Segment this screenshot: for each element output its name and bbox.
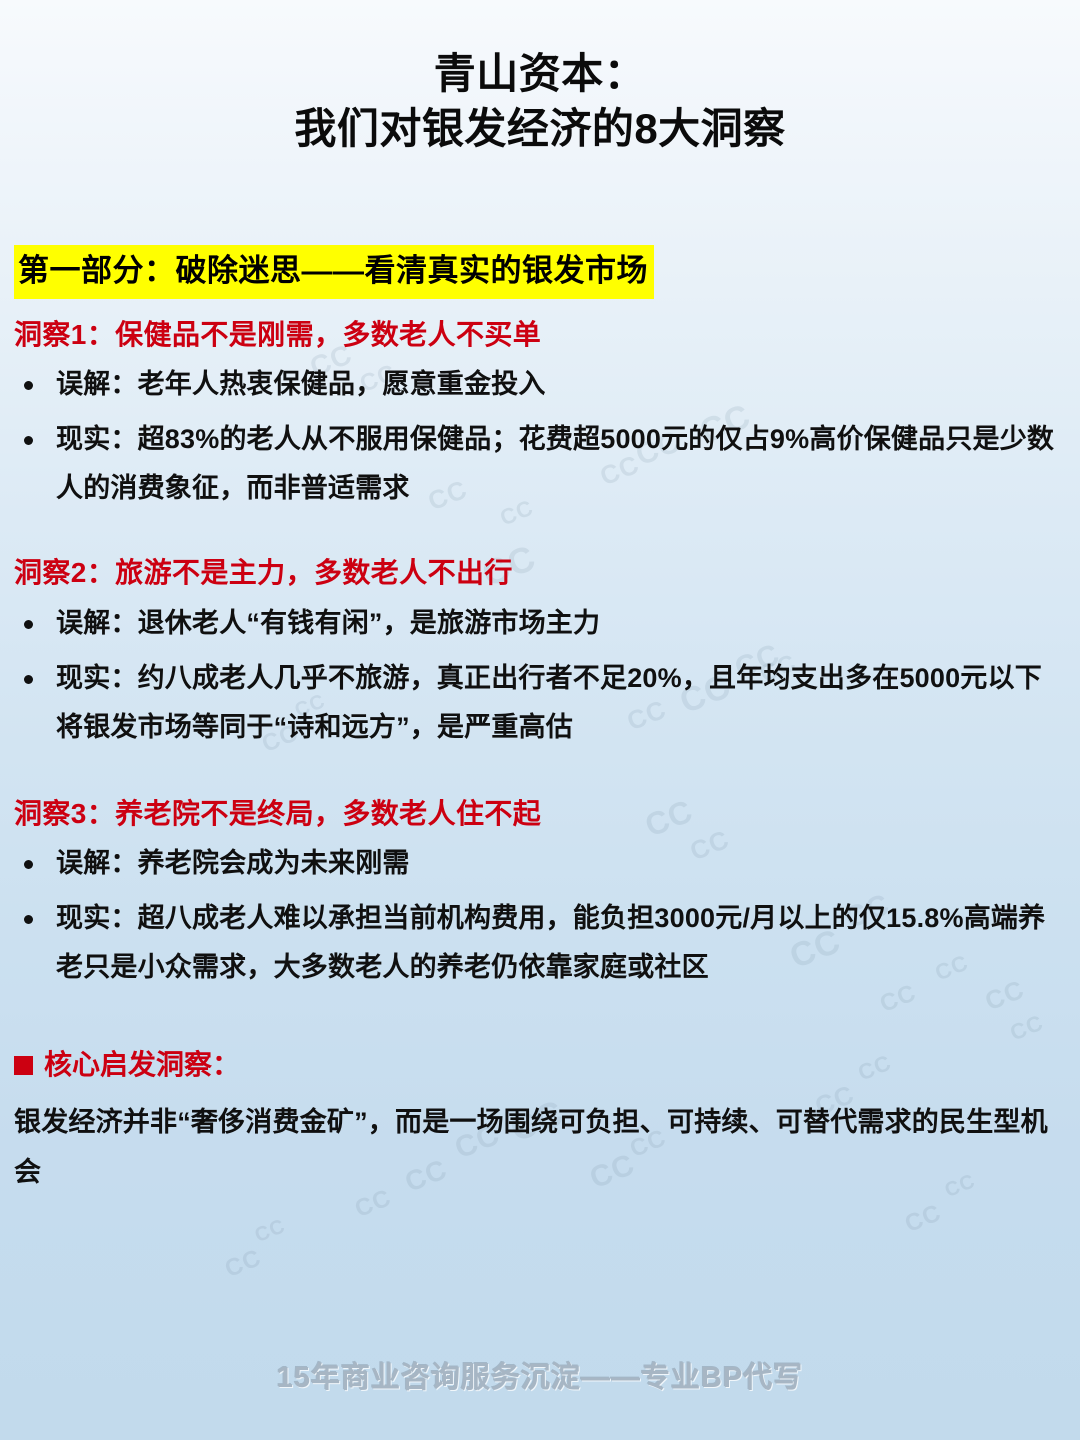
page-title: 青山资本： 我们对银发经济的8大洞察: [12, 0, 1068, 157]
page-title-line-2: 我们对银发经济的8大洞察: [12, 101, 1068, 156]
list-item: 误解：退休老人“有钱有闲”，是旅游市场主力: [14, 599, 1068, 648]
core-insight-block: 核心启发洞察： 银发经济并非“奢侈消费金矿”，而是一场围绕可负担、可持续、可替代…: [12, 1045, 1068, 1198]
square-bullet-icon: [14, 1056, 33, 1075]
list-item: 误解：老年人热衷保健品，愿意重金投入: [14, 360, 1068, 409]
insight-group-1: 洞察1：保健品不是刚需，多数老人不买单 误解：老年人热衷保健品，愿意重金投入 现…: [12, 315, 1068, 514]
section-banner-wrap: 第一部分：破除迷思——看清真实的银发市场: [12, 245, 1068, 299]
list-item: 现实：约八成老人几乎不旅游，真正出行者不足20%，且年均支出多在5000元以下将…: [14, 654, 1068, 752]
core-insight-body: 银发经济并非“奢侈消费金矿”，而是一场围绕可负担、可持续、可替代需求的民生型机会: [14, 1098, 1068, 1198]
page-title-line-1: 青山资本：: [12, 46, 1068, 101]
section-banner: 第一部分：破除迷思——看清真实的银发市场: [14, 245, 654, 299]
list-item: 误解：养老院会成为未来刚需: [14, 839, 1068, 888]
insight-bullets-3: 误解：养老院会成为未来刚需 现实：超八成老人难以承担当前机构费用，能负担3000…: [14, 839, 1068, 992]
core-insight-heading: 核心启发洞察：: [14, 1045, 1068, 1084]
footer-text: 15年商业咨询服务沉淀——专业BP代写: [277, 1354, 804, 1396]
footer: 15年商业咨询服务沉淀——专业BP代写: [0, 1354, 1080, 1396]
insight-bullets-1: 误解：老年人热衷保健品，愿意重金投入 现实：超83%的老人从不服用保健品；花费超…: [14, 360, 1068, 513]
list-item: 现实：超83%的老人从不服用保健品；花费超5000元的仅占9%高价保健品只是少数…: [14, 415, 1068, 513]
insight-heading-1: 洞察1：保健品不是刚需，多数老人不买单: [14, 315, 1068, 354]
insight-group-2: 洞察2：旅游不是主力，多数老人不出行 误解：退休老人“有钱有闲”，是旅游市场主力…: [12, 553, 1068, 752]
insight-bullets-2: 误解：退休老人“有钱有闲”，是旅游市场主力 现实：约八成老人几乎不旅游，真正出行…: [14, 599, 1068, 752]
list-item: 现实：超八成老人难以承担当前机构费用，能负担3000元/月以上的仅15.8%高端…: [14, 894, 1068, 992]
core-insight-heading-label: 核心启发洞察：: [44, 1045, 240, 1084]
insight-heading-2: 洞察2：旅游不是主力，多数老人不出行: [14, 553, 1068, 592]
insight-heading-3: 洞察3：养老院不是终局，多数老人住不起: [14, 794, 1068, 833]
slide-page: 青山资本： 我们对银发经济的8大洞察 第一部分：破除迷思——看清真实的银发市场 …: [0, 0, 1080, 1440]
insight-group-3: 洞察3：养老院不是终局，多数老人住不起 误解：养老院会成为未来刚需 现实：超八成…: [12, 794, 1068, 993]
